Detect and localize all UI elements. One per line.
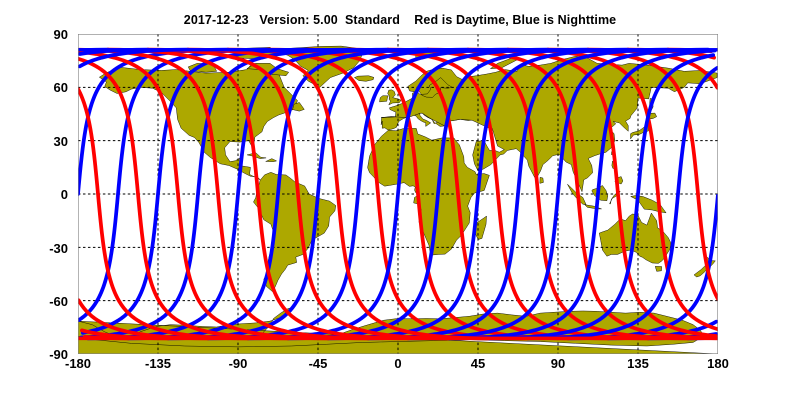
x-tick-135: 135 — [608, 356, 668, 371]
y-tick-60: 60 — [28, 80, 68, 95]
plot-area — [78, 34, 718, 354]
y-tick-90: 90 — [28, 27, 68, 42]
polar-band-south — [78, 337, 718, 341]
chart-title: 2017-12-23 Version: 5.00 Standard Red is… — [0, 13, 800, 27]
y-tick-m30: -30 — [28, 241, 68, 256]
y-tick-30: 30 — [28, 134, 68, 149]
landmass-srilanka — [540, 177, 544, 183]
x-tick-m45: -45 — [288, 356, 348, 371]
x-tick-m90: -90 — [208, 356, 268, 371]
x-tick-m180: -180 — [48, 356, 108, 371]
x-tick-45: 45 — [448, 356, 508, 371]
y-tick-m60: -60 — [28, 294, 68, 309]
x-tick-m135: -135 — [128, 356, 188, 371]
polar-band-north — [78, 48, 718, 51]
figure: 2017-12-23 Version: 5.00 Standard Red is… — [0, 0, 800, 400]
y-tick-0: 0 — [28, 187, 68, 202]
x-tick-90: 90 — [528, 356, 588, 371]
x-tick-0: 0 — [368, 356, 428, 371]
world-map — [78, 34, 718, 354]
x-tick-180: 180 — [688, 356, 748, 371]
